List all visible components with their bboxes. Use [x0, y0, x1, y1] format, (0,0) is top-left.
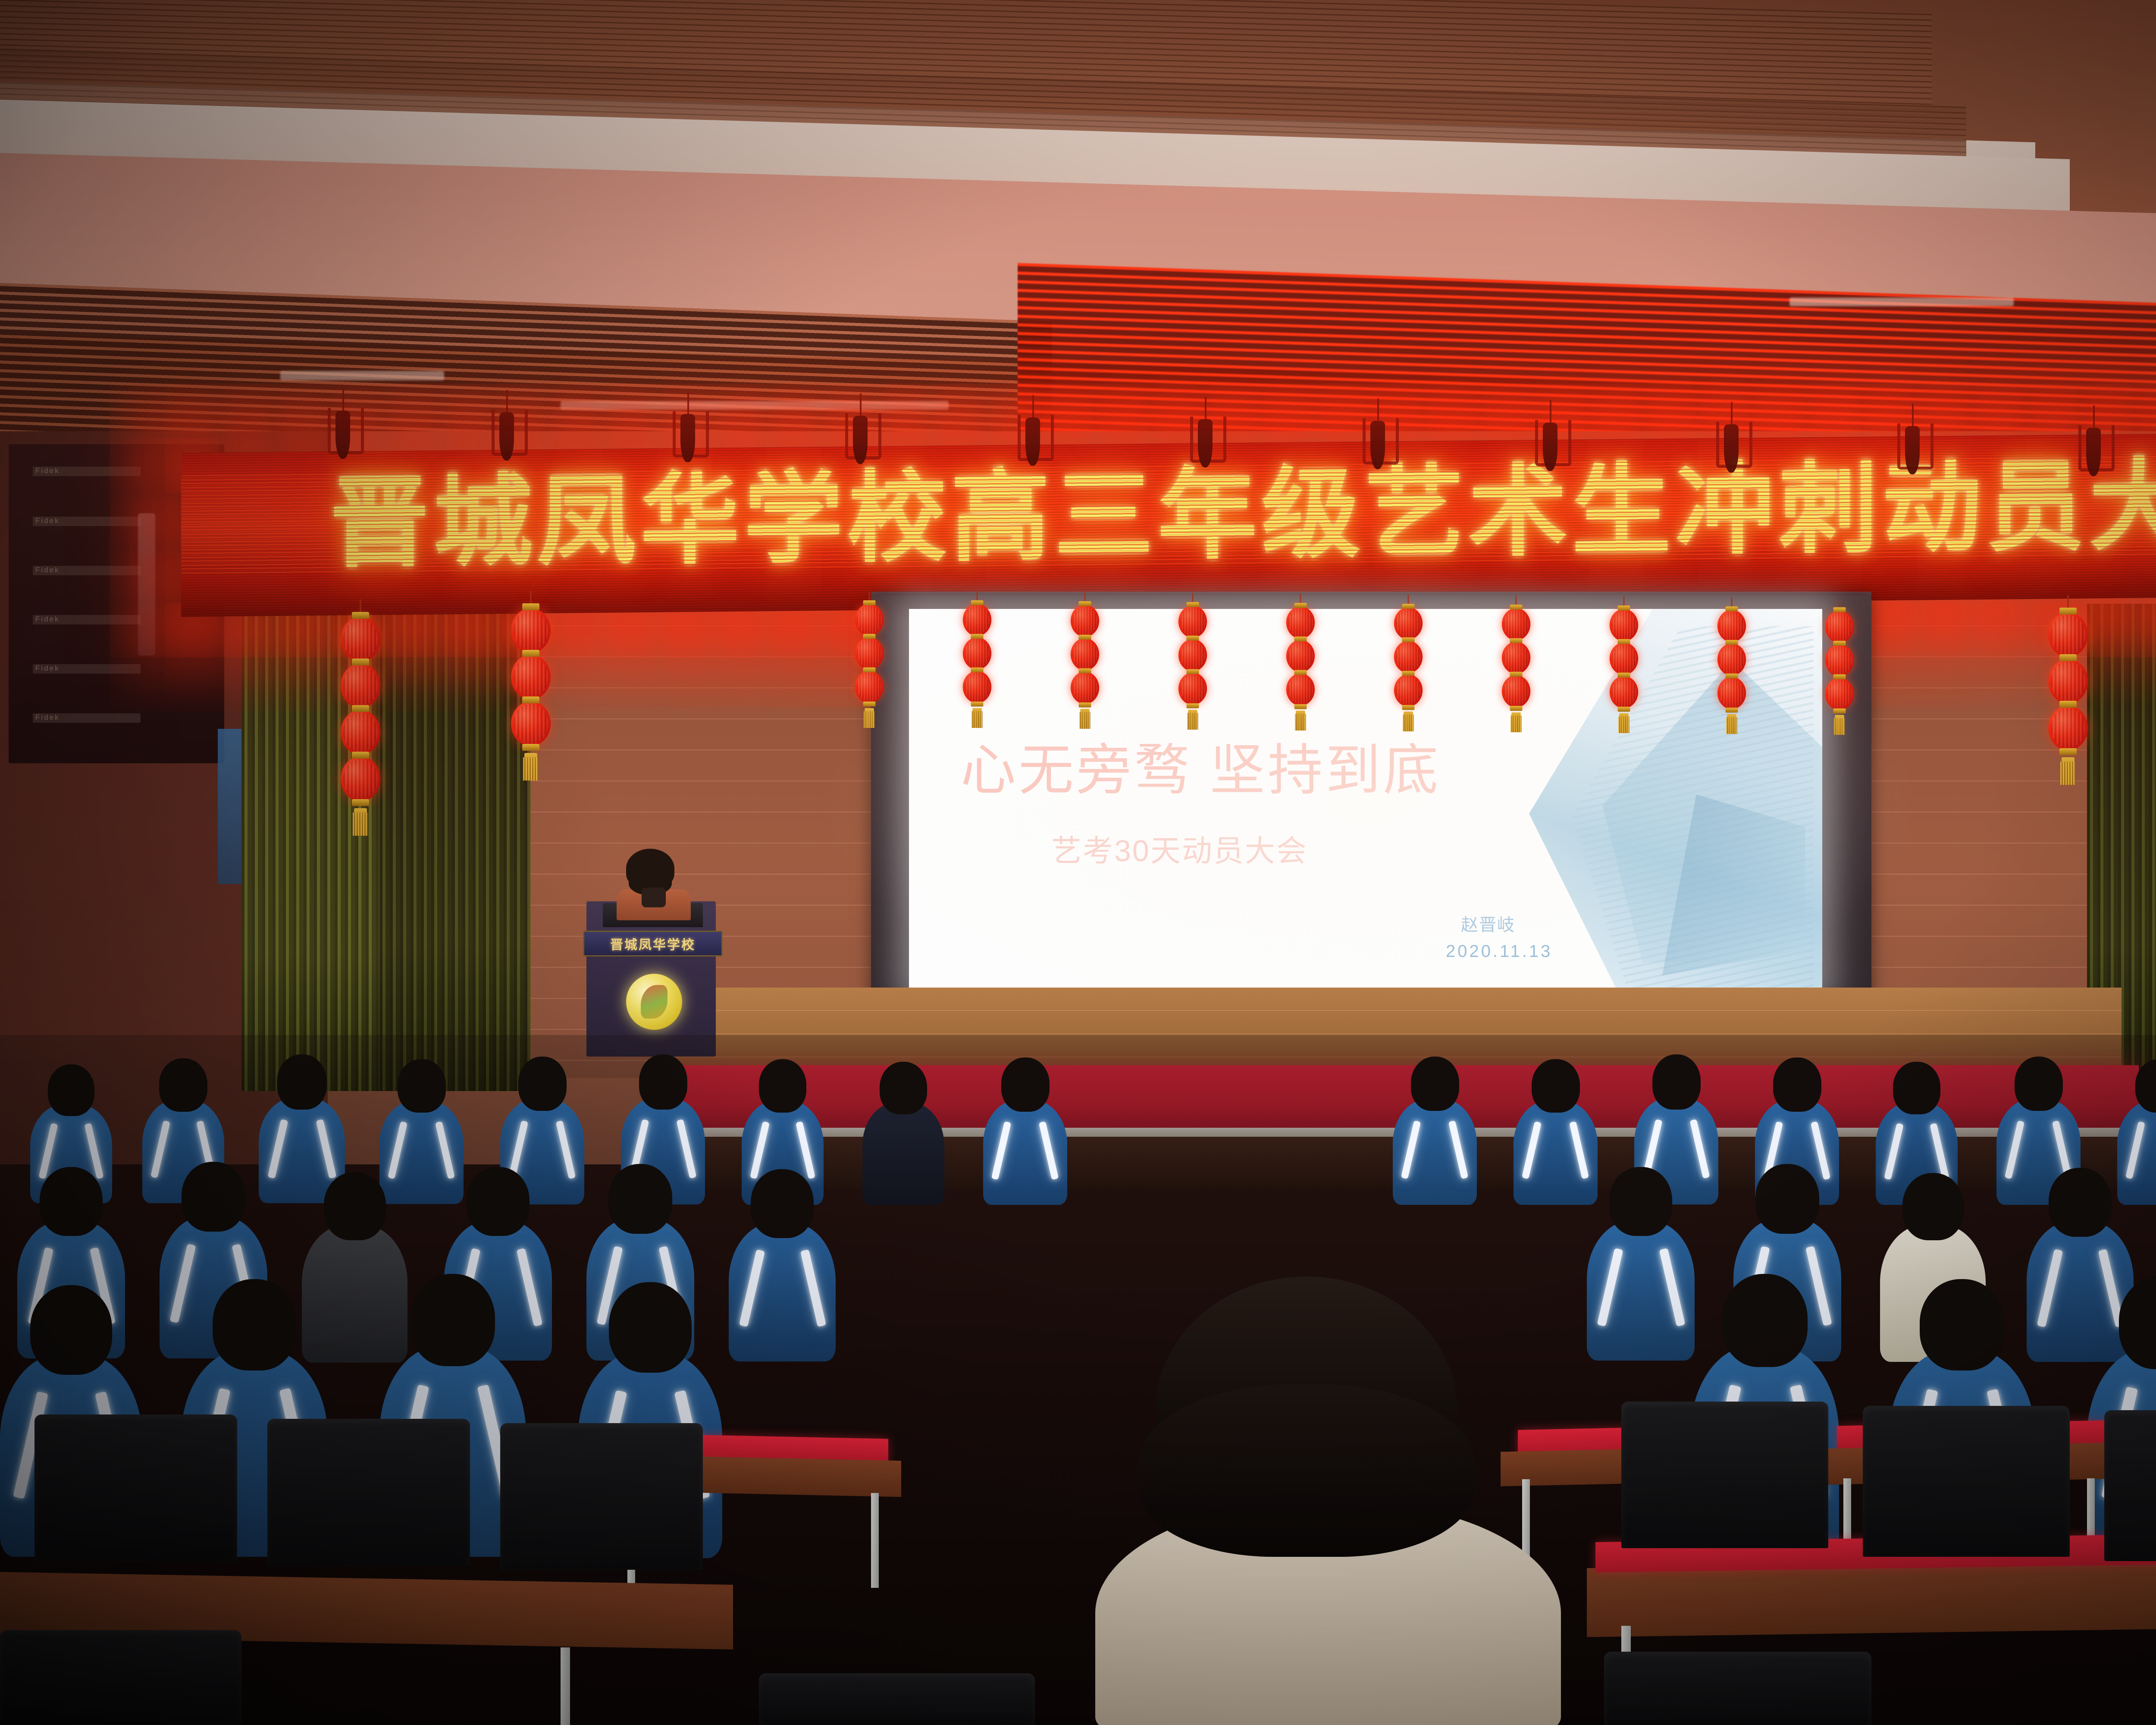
foreground-attendee: [1095, 1276, 1561, 1725]
lantern-tassel: [1511, 712, 1521, 732]
chair: [267, 1419, 470, 1565]
slide-author: 赵晋岐: [1461, 911, 1515, 936]
led-banner-text: 晋城凤华学校高三年级艺术生冲刺动员大会: [181, 454, 2156, 574]
red-lantern: [963, 637, 991, 670]
red-lantern: [1178, 673, 1207, 705]
red-lantern: [1610, 676, 1638, 709]
speaker-unit: Fidek: [33, 467, 141, 476]
speaker-unit: Fidek: [33, 517, 141, 526]
student-head: [1902, 1173, 1964, 1240]
lantern-tassel: [1619, 713, 1629, 733]
student-uniform: [1514, 1101, 1598, 1205]
desk-leg: [561, 1647, 570, 1725]
student-head: [411, 1274, 495, 1366]
student: [2117, 1101, 2156, 1205]
student-head: [751, 1169, 814, 1238]
student-uniform: [2027, 1221, 2134, 1362]
red-lantern: [1071, 638, 1099, 671]
student-head: [880, 1062, 927, 1114]
student-head: [1722, 1274, 1808, 1367]
red-lantern: [855, 604, 884, 636]
lantern-string: [1502, 608, 1530, 732]
speaker-unit: Fidek: [33, 664, 141, 674]
red-lantern: [855, 671, 884, 703]
lantern-string: [1286, 606, 1315, 731]
red-lantern: [341, 756, 380, 801]
ceiling-light-tube-3: [1789, 298, 2014, 306]
student: [1393, 1099, 1477, 1205]
projection-screen: 心无旁骛 坚持到底 艺考30天动员大会 赵晋岐 2020.11.13: [909, 609, 1822, 993]
student-head: [398, 1059, 446, 1113]
lantern-tassel: [865, 708, 874, 728]
red-lantern: [1394, 607, 1423, 640]
student: [1514, 1101, 1598, 1205]
red-lantern: [2048, 612, 2088, 657]
lantern-string: [1717, 610, 1746, 734]
presenter: [611, 846, 693, 915]
lantern-tassel: [354, 808, 367, 836]
led-banner: 晋城凤华学校高三年级艺术生冲刺动员大会: [181, 431, 2156, 617]
student: [862, 1102, 944, 1205]
red-lantern: [1286, 640, 1315, 672]
student-head: [1920, 1279, 2004, 1371]
lantern-string: [963, 604, 991, 728]
lantern-string: [2048, 612, 2088, 785]
desk-leg: [871, 1493, 879, 1588]
student-head: [608, 1164, 672, 1234]
lantern-string: [1610, 609, 1638, 733]
lantern-tassel: [1296, 711, 1305, 731]
red-lantern: [1825, 644, 1854, 677]
red-lantern: [1286, 674, 1315, 706]
student-head: [1893, 1062, 1940, 1114]
podium-nameplate: 晋城凤华学校: [583, 931, 723, 957]
student-head: [30, 1285, 112, 1375]
red-lantern: [1394, 674, 1423, 707]
student-uniform: [729, 1223, 836, 1361]
lantern-tassel: [1835, 715, 1844, 735]
student-head: [518, 1057, 567, 1111]
chair: [1604, 1652, 1871, 1725]
student-head: [159, 1058, 207, 1112]
speaker-unit: Fidek: [33, 615, 141, 624]
student-head: [48, 1064, 94, 1116]
red-lantern: [963, 604, 991, 636]
chair: [0, 1630, 241, 1725]
student-head: [639, 1054, 687, 1110]
student-head: [1411, 1057, 1459, 1111]
student-head: [2049, 1168, 2112, 1237]
chair: [759, 1673, 1035, 1725]
red-lantern: [1286, 606, 1315, 639]
lantern-string: [1071, 605, 1099, 729]
red-lantern: [2048, 706, 2088, 750]
slide-subtitle: 艺考30天动员大会: [1051, 827, 1526, 870]
student-head: [467, 1167, 530, 1236]
red-lantern: [1717, 677, 1746, 709]
student: [983, 1100, 1067, 1205]
red-lantern: [1825, 678, 1854, 710]
student: [1587, 1220, 1695, 1361]
chair: [1621, 1402, 1828, 1548]
red-lantern: [1178, 639, 1207, 671]
chair: [500, 1423, 703, 1570]
student-uniform: [379, 1101, 464, 1204]
red-lantern: [1610, 609, 1638, 641]
ceiling-light-tube-1: [280, 371, 444, 380]
student-head: [759, 1059, 806, 1113]
red-lantern: [1502, 608, 1530, 640]
student-head: [1773, 1057, 1821, 1112]
presenter-hair: [626, 849, 674, 888]
student: [729, 1223, 836, 1361]
lantern-tassel: [1404, 712, 1413, 731]
lantern-string: [511, 608, 551, 781]
lantern-string: [855, 604, 884, 728]
student-head: [40, 1167, 103, 1236]
student-head: [277, 1054, 327, 1110]
student: [2027, 1221, 2134, 1362]
presenter-scarf: [642, 888, 666, 907]
student: [379, 1101, 464, 1204]
student-uniform: [983, 1100, 1067, 1205]
student-uniform: [1587, 1220, 1695, 1361]
red-lantern: [1071, 672, 1099, 704]
lantern-string: [1825, 611, 1854, 735]
student-uniform: [1393, 1099, 1477, 1205]
chair: [34, 1414, 237, 1561]
speaker-unit: Fidek: [33, 713, 141, 723]
lantern-tassel: [2062, 757, 2075, 785]
red-lantern: [1502, 675, 1530, 708]
red-lantern: [1717, 643, 1746, 676]
student-uniform: [302, 1225, 407, 1363]
red-lantern: [511, 608, 551, 653]
lantern-string: [1394, 607, 1423, 731]
red-lantern: [1178, 605, 1207, 638]
school-emblem: [626, 974, 682, 1030]
red-lantern: [341, 617, 380, 662]
chair: [1863, 1406, 2070, 1557]
ceiling-light-tube-2: [561, 401, 949, 410]
student-head: [1001, 1057, 1050, 1112]
chair: [2104, 1410, 2156, 1561]
foreground-attendee-hair: [1156, 1276, 1457, 1544]
student-head: [1652, 1054, 1701, 1110]
student-head: [1532, 1059, 1580, 1113]
red-lantern: [963, 671, 991, 703]
student-head: [2015, 1057, 2063, 1111]
slide-date: 2020.11.13: [1446, 942, 1552, 961]
red-lantern: [1717, 610, 1746, 642]
lantern-tassel: [1080, 709, 1090, 729]
student-head: [609, 1282, 692, 1373]
student-head: [182, 1162, 245, 1232]
red-lantern: [855, 637, 884, 670]
lantern-string: [1178, 605, 1207, 730]
red-lantern: [1610, 643, 1638, 675]
red-lantern: [511, 701, 551, 746]
red-lantern: [1825, 611, 1854, 643]
red-lantern: [1502, 642, 1530, 674]
lantern-tassel: [1188, 710, 1197, 730]
lantern-tassel: [972, 708, 982, 728]
speaker-unit: Fidek: [33, 566, 141, 575]
red-lantern: [1394, 641, 1423, 673]
lantern-tassel: [1727, 714, 1736, 734]
student: [302, 1225, 407, 1363]
podium-nameplate-text: 晋城凤华学校: [610, 934, 696, 953]
red-lantern: [2048, 659, 2088, 704]
lantern-tassel: [524, 753, 537, 781]
slide-title: 心无旁骛 坚持到底: [961, 740, 1504, 801]
red-lantern: [341, 710, 380, 755]
red-lantern: [341, 663, 380, 708]
lantern-string: [341, 617, 380, 836]
red-lantern: [1071, 605, 1099, 637]
stage-curtain-left-inner: [379, 604, 530, 1091]
student-head: [324, 1172, 386, 1240]
speaker-side-reflector: [138, 513, 155, 655]
auditorium-photo: Fidek Fidek Fidek Fidek Fidek Fidek 晋城凤华…: [0, 0, 2156, 1725]
student-head: [1755, 1164, 1819, 1234]
student-head: [213, 1279, 296, 1371]
red-lantern: [511, 655, 551, 699]
student-uniform: [862, 1102, 944, 1205]
student-head: [1609, 1167, 1672, 1236]
